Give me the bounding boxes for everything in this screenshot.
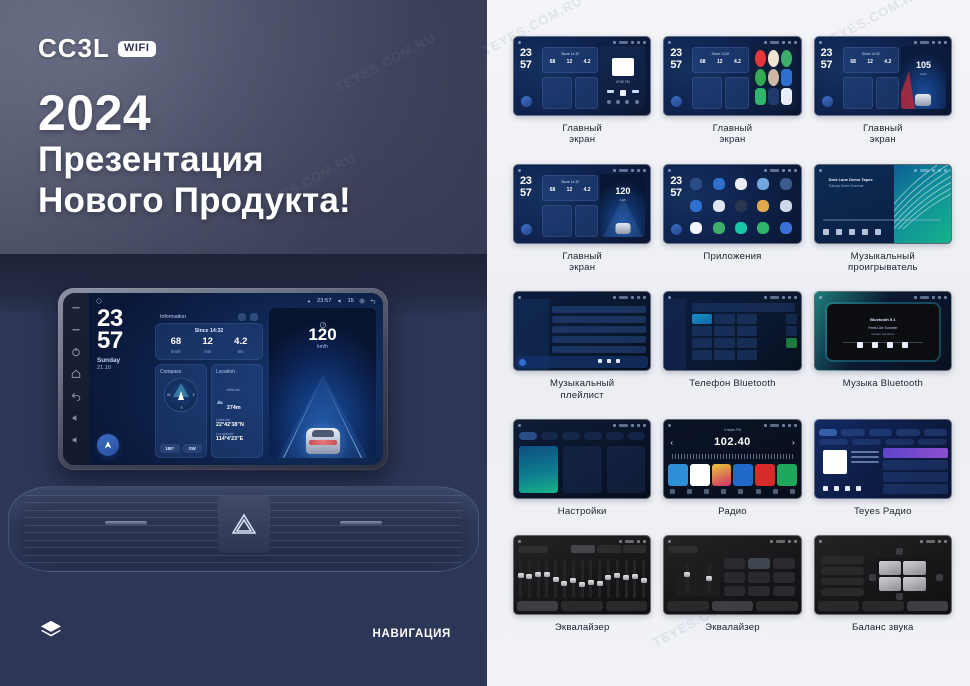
trip-speed-unit: km/h [171,349,182,354]
eq-band-slider [519,560,522,598]
radio-preset-1 [668,464,688,486]
eq2-slider [686,564,689,593]
compass-widget[interactable]: Compass W E S [155,364,207,459]
grid-item[interactable]: 23 57 Since 14:32 68124.2 07:50 FM [513,36,651,146]
settings-tab-system [628,432,646,440]
next-track-button[interactable] [71,325,81,335]
thumbnail-music-player[interactable]: Dark Lane Demo Tapes Subway Drake Drumme… [814,164,952,244]
radio-tab-home [670,489,675,494]
grid-item[interactable]: Teyes Радио [814,419,952,517]
thumbnail-settings[interactable] [513,419,651,499]
app-icon-playstore [757,222,769,234]
headline-line-1: Презентация [38,140,458,181]
playlist-row[interactable] [552,316,646,323]
grid-item-caption: Баланс звука [852,622,914,633]
station-row [883,484,948,494]
bt-track-artist: Golden Sunshine [827,332,939,336]
thumb-trip-since: Since 14:32 [845,52,897,56]
eq-band-slider [589,560,592,598]
thumb-app-pane [751,46,796,109]
equalizer-tab-bar[interactable] [517,601,647,611]
thumb-back-fab [671,224,682,235]
settings-tab-apps [584,432,602,440]
speed-readout: 120 km/h [269,316,376,350]
grid-item-caption: Музыка Bluetooth [843,378,923,389]
thumbnail-home-carplay[interactable]: 23 57 Since 14:32 68124.2 07:50 FM [513,36,651,116]
radio-tab-settings [773,489,778,494]
stop-icon [887,342,893,348]
trip-time-unit: min [202,349,213,354]
wifi-icon [306,298,312,304]
grid-item-caption: Музыкальныйпроигрыватель [848,251,918,274]
teyes-radio-station-list[interactable] [883,448,948,494]
navigation-fab-button[interactable] [97,434,119,456]
grid-item-caption: Главныйэкран [713,123,753,146]
seat-rear-left [879,577,901,591]
seat-rear-right [903,577,926,591]
grid-item-caption: Радио [718,506,747,517]
trip-since-label: Since 14:32 [160,328,258,334]
thumb-clock-minutes: 57 [670,61,681,71]
settings-card-more [607,446,646,493]
app-icons-grid [686,175,795,238]
app-icon-camera [780,178,792,190]
radio-tab-rds [738,489,743,494]
home-icon[interactable] [96,298,102,304]
app-icon-radio [780,222,792,234]
compass-needle [178,391,184,400]
screens-grid: 23 57 Since 14:32 68124.2 07:50 FM [513,36,952,634]
teyes-radio-tabs[interactable] [819,429,947,436]
bt-music-card: Bluetooth 5.1 Feels Like Summer Golden S… [827,304,939,360]
dial-key-2 [714,314,734,324]
radio-preset-4 [733,464,753,486]
thumbnail-home-apps[interactable]: 23 57 Since 14:32 68124.2 [663,36,801,116]
head-unit-bezel: 23:57 15 [58,288,388,470]
playlist-row[interactable] [552,326,646,333]
speed-unit: km/h [269,344,376,350]
playlist-row[interactable] [552,306,646,313]
balance-up-button[interactable] [896,548,903,555]
dialer-actions[interactable] [786,314,797,348]
trip-distance-value: 4.2 [234,337,247,347]
bt-version-label: Bluetooth 5.1 [827,317,939,322]
dialer-sidebar[interactable] [664,299,686,370]
grid-item[interactable]: 23 57 Since 14:32 68124.2 Главныйэкран [663,36,801,146]
dial-key-5 [714,326,734,336]
thumb-speed-value: 120 [600,186,645,196]
logo-wifi-badge: WIFI [118,41,156,57]
clock-weekday: Sunday [97,357,149,364]
eq-band-slider [545,560,548,598]
settings-cards[interactable] [519,446,645,493]
balance-down-button[interactable] [896,593,903,600]
location-title: Location [216,369,258,375]
radio-preset-2 [690,464,710,486]
radio-tab-list [704,489,709,494]
compass-direction: SW [183,444,203,453]
next-icon [902,342,908,348]
station-row [883,448,948,458]
grid-item[interactable]: Эквалайзер [513,535,651,633]
thumb-clock: 23 [670,49,681,59]
eq-band-slider [554,560,557,598]
compass-title: Compass [160,369,202,375]
screens-grid-panel: TEYES.COM.RU TEYES.COM.RU TEYES.COM.RU 2… [487,0,970,686]
layers-icon [40,620,62,640]
thumbnail-sound-balance[interactable] [814,535,952,615]
repeat-icon [875,229,881,235]
dial-key-1 [692,314,712,324]
compass-south-label: S [180,406,182,410]
app-icon-bt-music [735,178,747,190]
hero-panel: TEYES.COM.RU TEYES.COM.RU TEYES.COM.RU C… [0,0,487,686]
thumb-trip-since: Since 14:32 [544,52,596,56]
settings-tab-display [562,432,580,440]
thumb-nav-fab [521,224,532,235]
player-visualizer-pane [894,165,951,243]
balance-seat-pad[interactable] [876,558,929,594]
settings-tab-general [606,432,624,440]
eq-band-slider [572,560,575,598]
eq-band-slider [625,560,628,598]
thumbnail-teyes-radio[interactable] [814,419,952,499]
vent-highlight-right [340,521,382,525]
dial-key-8 [714,338,734,348]
headline-year: 2024 [38,86,458,140]
playlist-row[interactable] [552,336,646,343]
radio-tuning-scale[interactable] [672,454,792,459]
teyes-radio-album-art [823,450,847,474]
eq-band-slider [528,560,531,598]
grid-item-caption: Teyes Радио [854,506,912,517]
app-icon-calculator [757,178,769,190]
play-pause-icon [872,342,878,348]
thumbnail-home-nav[interactable]: 23 57 Since 14:32 68124.2 120 km/h [513,164,651,244]
settings-tabs[interactable] [519,432,645,440]
equalizer-2-sliders[interactable] [676,560,720,596]
equalizer-2-tab-bar[interactable] [667,601,797,611]
grid-item[interactable]: Bluetooth 5.1 Feels Like Summer Golden S… [814,291,952,401]
prev-icon [823,486,828,491]
head-unit-side-buttons[interactable] [63,293,89,465]
vent-highlight-left [105,521,147,525]
clock-minutes: 57 [97,330,149,352]
station-row [883,460,948,470]
thumb-carplay-pane: 07:50 FM [600,46,645,109]
playlist-row[interactable] [552,346,646,353]
thumb-clock: 23 [520,49,531,59]
longitude-value: 114°4'23"E [216,436,258,442]
settings-tab-wifi [519,432,537,440]
balance-right-button[interactable] [936,574,943,581]
car-dashboard-illustration: 23:57 15 [0,258,487,686]
grid-item-caption: Телефон Bluetooth [689,378,775,389]
player-track-artist: Subway Drake Drummer [829,184,864,188]
volume-icon[interactable] [337,298,343,304]
grid-item[interactable]: Телефон Bluetooth [663,291,801,401]
dial-key-7 [692,338,712,348]
dial-key-4 [692,326,712,336]
eq-band-slider [563,560,566,598]
equalizer-preset-label [518,546,548,553]
teyes-radio-meta [851,451,879,466]
eq-band-slider [581,560,584,598]
app-icon-google [690,222,702,234]
seat-front-right [903,561,926,575]
next-icon [845,486,850,491]
product-logo: CC3L WIFI [38,33,156,64]
app-icon-contacts [713,200,725,212]
app-icon-bluetooth [713,178,725,190]
dial-key-9 [737,338,757,348]
logo-text: CC3L [38,33,110,64]
stop-icon [834,486,839,491]
status-time: 23:57 [317,298,332,304]
favorite-icon [856,486,861,491]
compass-east-label: E [193,393,195,397]
thumb-clock-minutes: 57 [520,61,531,71]
thumbnail-bt-phone[interactable] [663,291,801,371]
air-vent-panel [8,486,479,572]
grid-item-caption: Эквалайзер [705,622,760,633]
thumb-trip-since: Since 14:32 [694,52,746,56]
navigation-caption: НАВИГАЦИЯ [372,628,451,640]
next-icon [862,229,868,235]
clock-date: 21.10 [97,365,149,371]
player-progress-bar[interactable] [823,219,941,221]
compass-dial: W E S [164,378,198,412]
eq-band-slider [642,560,645,598]
settings-card-traffic [563,446,602,493]
balance-left-button[interactable] [869,574,876,581]
shuffle-icon [823,229,829,235]
radio-tab-band [756,489,761,494]
thumbnail-home-speed[interactable]: 23 57 Since 14:32 68124.2 105 km/h [814,36,952,116]
grid-item[interactable]: Баланс звука [814,535,952,633]
equalizer-band-sliders[interactable] [519,560,645,598]
pause-icon [849,229,855,235]
thumbnail-equalizer[interactable] [513,535,651,615]
bt-track-title: Feels Like Summer [827,326,939,330]
grid-item[interactable]: Эквалайзер [663,535,801,633]
call-icon [786,338,797,348]
grid-item-caption: Настройки [558,506,607,517]
eq-band-slider [537,560,540,598]
thumb-nav-fab [521,96,532,107]
thumb-trip-since: Since 14:32 [544,180,596,184]
balance-tab-bar[interactable] [818,601,948,611]
thumbnail-bt-music[interactable]: Bluetooth 5.1 Feels Like Summer Golden S… [814,291,952,371]
information-widget[interactable]: Information Since 14:32 [155,310,263,360]
compass-degrees: 180° [160,444,180,453]
prev-icon [857,342,863,348]
dial-key-6 [737,326,757,336]
radio-tab-bar[interactable] [664,488,800,496]
app-icon-music [735,222,747,234]
equalizer-2-label [668,546,698,553]
driving-view-widget[interactable]: 120 km/h [269,308,376,458]
dial-key-3 [737,314,757,324]
location-widget[interactable]: Location Altitude 274m [211,364,263,459]
eq-band-slider [616,560,619,598]
mountain-icon [216,392,224,399]
volume-down-button[interactable] [71,413,81,423]
back-arrow-icon[interactable] [370,298,376,304]
status-bar: 23:57 15 [89,293,383,308]
head-unit-display[interactable]: 23:57 15 [89,293,383,465]
teyes-radio-controls[interactable] [823,486,861,491]
eq-band-slider [598,560,601,598]
thumb-clock-minutes: 57 [520,189,531,199]
expand-icon[interactable] [250,313,258,321]
radio-tab-more [790,489,795,494]
app-icon-wifi [690,178,702,190]
dial-key-0 [714,350,734,360]
grid-item-caption: Эквалайзер [555,622,610,633]
trip-speed-value: 68 [171,337,182,347]
grid-item[interactable]: Dark Lane Demo Tapes Subway Drake Drumme… [814,164,952,274]
thumb-clock: 23 [670,177,681,187]
grid-item[interactable]: Стерео FM ‹ › 102.40 [663,419,801,517]
trip-stat: 4.2 km [234,337,247,354]
equalizer-2-mode-buttons[interactable] [724,558,795,596]
radio-frequency: 102.40 [664,436,800,448]
thumb-driving-pane: 120 km/h [600,174,645,237]
grid-item[interactable]: 23 57 Since 14:32 68124.2 105 km/h Гл [814,36,952,146]
home-button[interactable] [71,369,81,379]
app-icon-maps [713,222,725,234]
equalizer-preset-buttons[interactable] [571,545,646,553]
trip-distance-unit: km [234,349,247,354]
thumbnail-apps[interactable]: 23 57 [663,164,801,244]
headline-line-2: Нового Продукта! [38,181,458,222]
trip-stat: 68 km/h [171,337,182,354]
dial-key-hash [737,350,757,360]
clock-widget[interactable]: 23 57 Sunday 21.10 [97,308,149,458]
gear-icon[interactable] [359,298,365,304]
radio-tab-eq [721,489,726,494]
thumb-driving-pane: 105 km/h [901,46,946,109]
radio-presets[interactable] [668,464,796,486]
grid-item[interactable]: Музыкальныйплейлист [513,291,651,401]
widgets-column: Information Since 14:32 [155,308,263,458]
back-button[interactable] [71,391,81,401]
thumb-speed-value: 105 [901,60,946,70]
radio-preset-3 [712,464,732,486]
thumb-clock-minutes: 57 [821,61,832,71]
thumbnail-music-playlist[interactable] [513,291,651,371]
grid-item[interactable]: Настройки [513,419,651,517]
thumb-nav-fab [671,96,682,107]
eq-band-slider [633,560,636,598]
seat-front-left [879,561,901,575]
grid-item[interactable]: 23 57 Since 14:32 68124.2 120 km/h Гл [513,164,651,274]
playlist-player-bar[interactable] [516,356,648,368]
player-controls[interactable] [823,229,881,235]
app-icon-chrome [690,200,702,212]
teyes-radio-filters[interactable] [819,439,947,445]
backspace-icon [786,326,797,336]
information-title: Information [160,314,186,320]
refresh-icon[interactable] [238,313,246,321]
vehicle-3d-model [306,428,340,454]
volume-up-button[interactable] [71,435,81,445]
grid-item[interactable]: 23 57 [663,164,801,274]
hazard-lights-button[interactable] [218,495,270,553]
trip-card: Since 14:32 68 km/h 12 [155,323,263,360]
headline: 2024 Презентация Нового Продукта! [38,86,458,221]
thumb-nav-fab [822,96,833,107]
settings-tab-sound [541,432,559,440]
thumb-clock: 23 [520,177,531,187]
grid-item-caption: Главныйэкран [562,251,602,274]
dialer-keypad[interactable] [692,314,757,360]
eq-band-slider [607,560,610,598]
favorite-icon [786,314,797,324]
thumb-clock-minutes: 57 [670,189,681,199]
balance-preset-list[interactable] [821,556,865,596]
altitude-value: 274m [227,405,241,411]
prev-icon [836,229,842,235]
radio-preset-5 [755,464,775,486]
altitude-label: Altitude [227,387,240,392]
home-screen-body: 23 57 Sunday 21.10 [89,308,383,465]
radio-band-label: Стерео FM [664,428,800,432]
prev-track-button[interactable] [71,303,81,313]
bt-controls[interactable] [827,342,939,348]
app-icon-dvr [735,200,747,212]
radio-tab-search [687,489,692,494]
power-button[interactable] [71,347,81,357]
thumbnail-equalizer-2[interactable] [663,535,801,615]
speed-icon [319,316,327,324]
settings-card-wifi [519,446,558,493]
eq2-slider [708,564,711,593]
app-icon-filemanager [757,200,769,212]
presentation-slide: TEYES.COM.RU TEYES.COM.RU TEYES.COM.RU C… [0,0,970,686]
thumb-clock: 23 [821,49,832,59]
app-icon-gallery [780,200,792,212]
radio-preset-6 [777,464,797,486]
dial-key-star [692,350,712,360]
status-volume-level: 15 [348,298,354,304]
grid-item-caption: Главныйэкран [863,123,903,146]
compass-west-label: W [167,393,170,397]
station-row [883,472,948,482]
dialer-number-input[interactable] [692,303,796,312]
thumbnail-radio[interactable]: Стерео FM ‹ › 102.40 [663,419,801,499]
grid-item-caption: Приложения [703,251,761,262]
grid-item-caption: Главныйэкран [562,123,602,146]
trip-stat: 12 min [202,337,213,354]
trip-time-value: 12 [202,337,213,347]
head-unit-screen-area: 23:57 15 [63,293,383,465]
grid-item-caption: Музыкальныйплейлист [550,378,614,401]
latitude-value: 22°42'38"N [216,422,258,428]
player-track-title: Dark Lane Demo Tapes [829,177,873,182]
